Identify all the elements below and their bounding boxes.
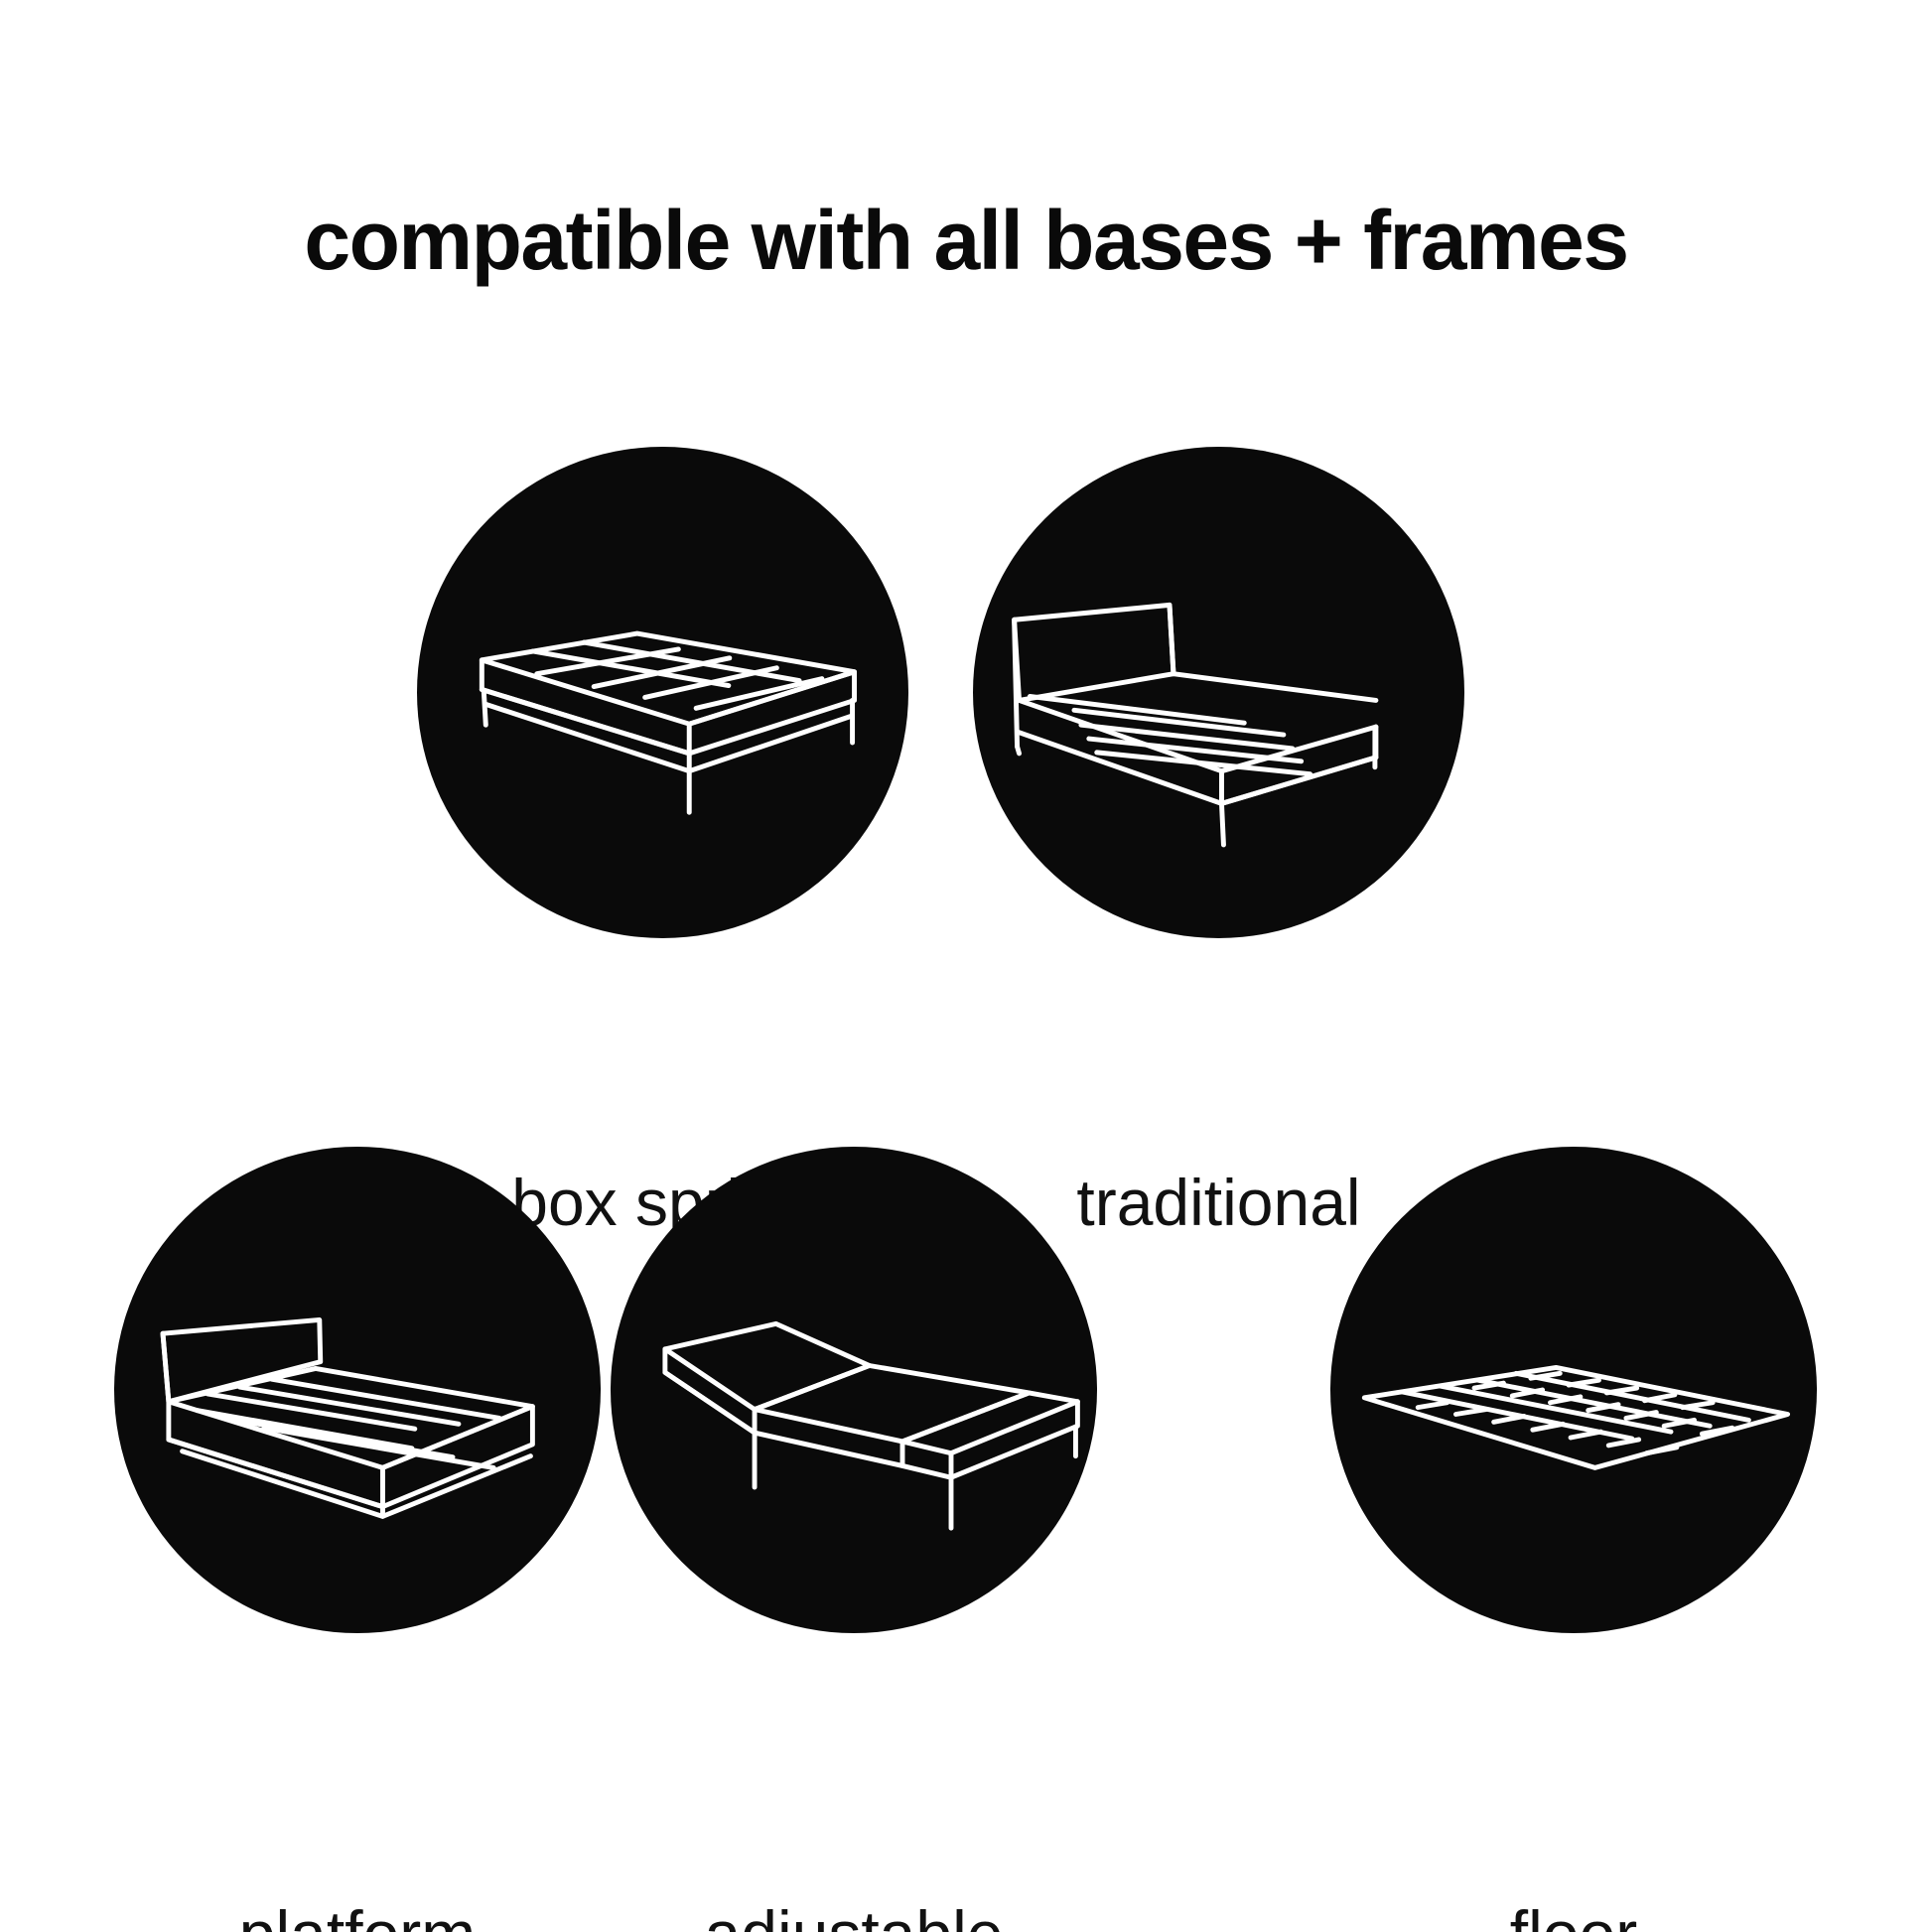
page-title: compatible with all bases + frames bbox=[0, 199, 1932, 282]
traditional-bed-frame-icon bbox=[973, 447, 1464, 938]
box-spring-bed-icon bbox=[417, 447, 908, 938]
compatibility-label-floor: floor bbox=[1276, 1901, 1871, 1932]
traditional-icon-disc bbox=[973, 447, 1464, 938]
adjustable-icon-disc bbox=[611, 1147, 1097, 1633]
floor-icon-disc bbox=[1330, 1147, 1817, 1633]
adjustable-base-icon bbox=[611, 1147, 1097, 1633]
floor-slats-icon bbox=[1330, 1147, 1817, 1633]
platform-bed-icon bbox=[114, 1147, 601, 1633]
box-spring-icon-disc bbox=[417, 447, 908, 938]
platform-icon-disc bbox=[114, 1147, 601, 1633]
compatibility-label-adjustable: adjustable bbox=[556, 1901, 1152, 1932]
compatibility-infographic: compatible with all bases + frames bbox=[0, 0, 1932, 1932]
